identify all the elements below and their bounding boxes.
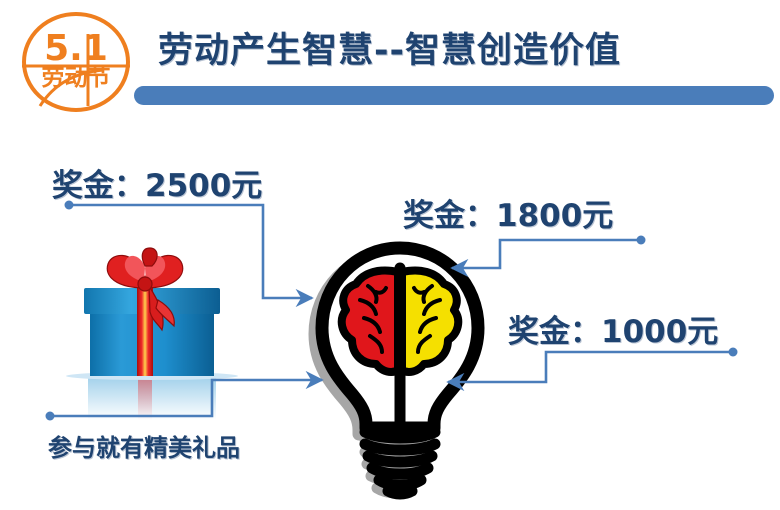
gift-ribbon-vertical — [137, 288, 153, 376]
gift-bow — [107, 248, 182, 330]
badge-festival-text: 劳动节 — [42, 65, 111, 91]
prize-label-1000: 奖金：1000元 — [508, 306, 718, 351]
gift-box-ground-shadow — [66, 372, 238, 380]
connector-prize-3 — [448, 348, 738, 383]
header-accent-bar — [134, 86, 774, 105]
lightbulb-glass — [322, 248, 478, 428]
prize-label-1800: 奖金：1800元 — [403, 190, 613, 235]
brain-folds-right — [414, 286, 440, 352]
connector-dot-gift — [46, 412, 55, 421]
brain-left-hemisphere — [342, 271, 398, 373]
badge-date-text: 5.1 — [44, 28, 108, 69]
gift-reward-label: 参与就有精美礼品 — [48, 428, 240, 463]
gift-box-lid — [84, 288, 220, 314]
prize-label-2500: 奖金：2500元 — [52, 160, 262, 205]
brain-right-hemisphere — [402, 271, 458, 373]
labor-day-badge-icon: 5.1 劳动节 — [18, 10, 134, 114]
poster-canvas: 5.1 劳动节 劳动产生智慧--智慧创造价值 — [0, 0, 780, 510]
connector-dot-prize-3 — [729, 348, 738, 357]
connector-gift — [46, 380, 323, 421]
page-title: 劳动产生智慧--智慧创造价值 — [158, 22, 768, 73]
connector-prize-2 — [452, 236, 646, 269]
connector-prize-1 — [65, 201, 313, 299]
gift-box-body — [90, 290, 214, 376]
lightbulb-screw-base — [365, 432, 435, 494]
labor-day-badge-svg: 5.1 劳动节 — [18, 10, 134, 114]
brain-graphic — [342, 268, 459, 424]
connector-dot-prize-2 — [637, 236, 646, 245]
lightbulb-shadow — [315, 254, 471, 493]
gift-box-reflection — [88, 376, 216, 420]
brain-folds-left — [360, 286, 386, 352]
header-band: 5.1 劳动节 劳动产生智慧--智慧创造价值 — [0, 0, 780, 125]
